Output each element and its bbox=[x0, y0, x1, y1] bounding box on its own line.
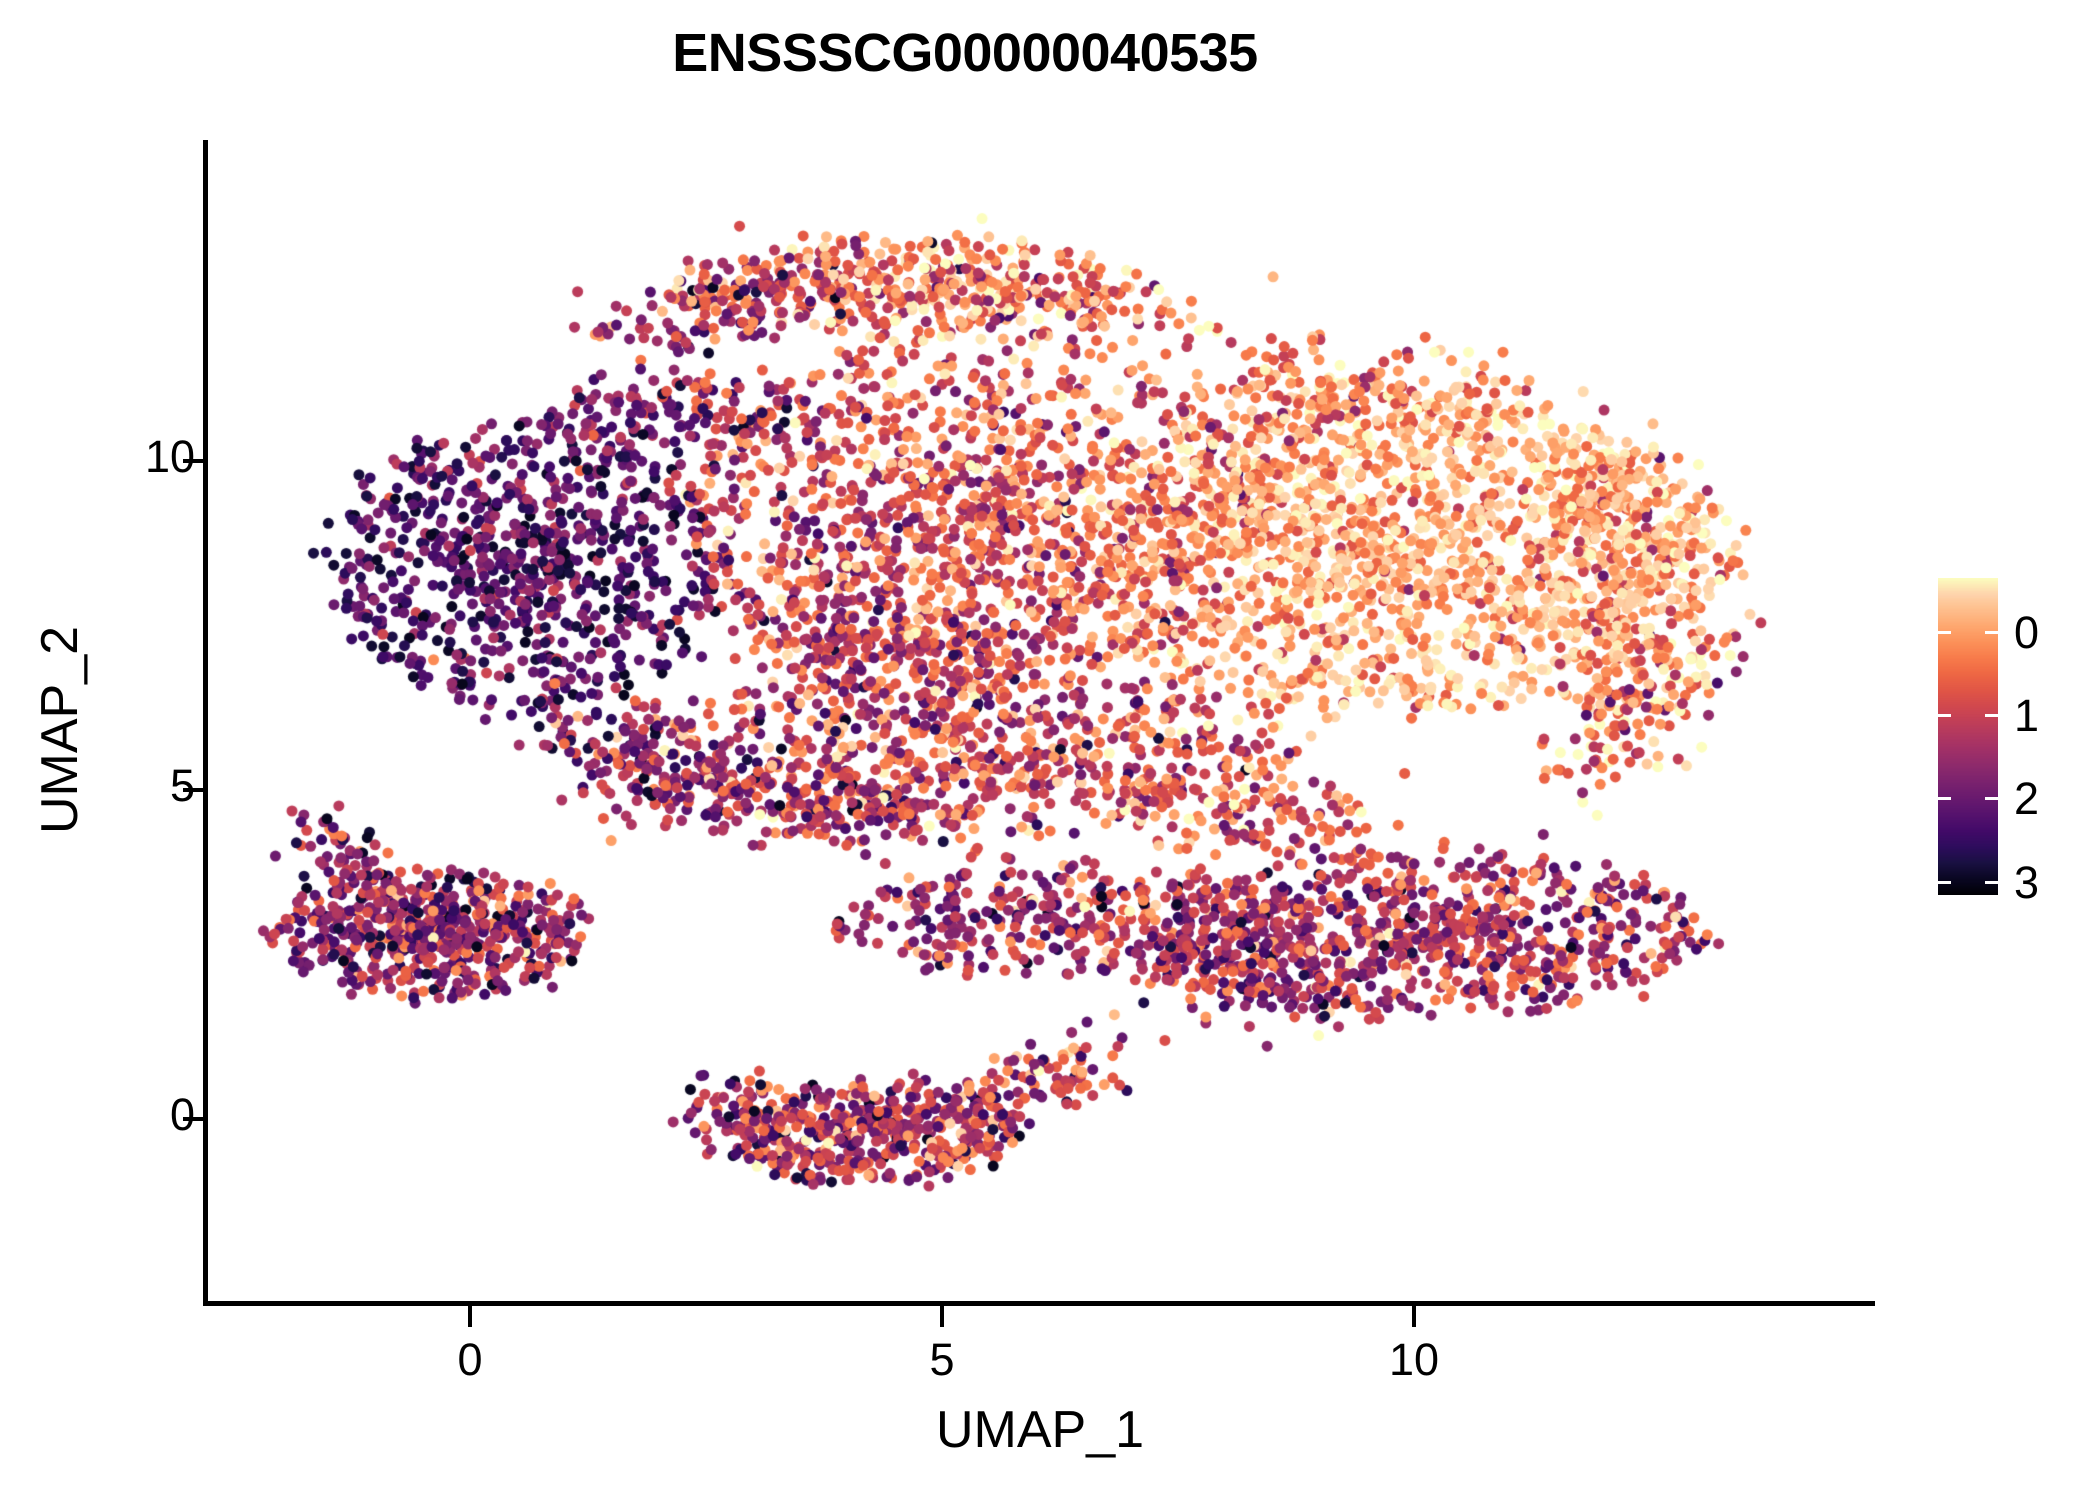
colorbar-gradient bbox=[1938, 578, 1998, 895]
x-axis-line bbox=[205, 1301, 1875, 1306]
y-tick-label-10: 10 bbox=[145, 434, 195, 479]
y-tick-label-5: 5 bbox=[170, 763, 195, 808]
x-tick-mark-5 bbox=[940, 1306, 944, 1327]
scatter-plot-canvas bbox=[205, 140, 1873, 1303]
chart-root: ENSSSCG00000040535 10 5 0 0 5 10 UMAP_1 … bbox=[0, 0, 2100, 1500]
colorbar-label-3: 0 bbox=[2014, 610, 2039, 655]
x-tick-label-10: 10 bbox=[1389, 1337, 1439, 1382]
x-tick-label-0: 0 bbox=[457, 1337, 482, 1382]
colorbar-legend: 3210 bbox=[1938, 578, 2088, 898]
page-title: ENSSSCG00000040535 bbox=[0, 22, 1930, 84]
x-tick-mark-0 bbox=[468, 1306, 472, 1327]
plot-panel bbox=[205, 140, 1873, 1303]
x-tick-mark-10 bbox=[1412, 1306, 1416, 1327]
colorbar-label-0: 3 bbox=[2014, 860, 2039, 905]
colorbar-label-2: 1 bbox=[2014, 693, 2039, 738]
y-tick-label-0: 0 bbox=[170, 1092, 195, 1137]
y-axis-title: UMAP_2 bbox=[30, 380, 90, 1080]
x-tick-label-5: 5 bbox=[929, 1337, 954, 1382]
x-axis-title: UMAP_1 bbox=[205, 1400, 1875, 1460]
colorbar-label-1: 2 bbox=[2014, 776, 2039, 821]
y-axis-line bbox=[203, 140, 208, 1306]
